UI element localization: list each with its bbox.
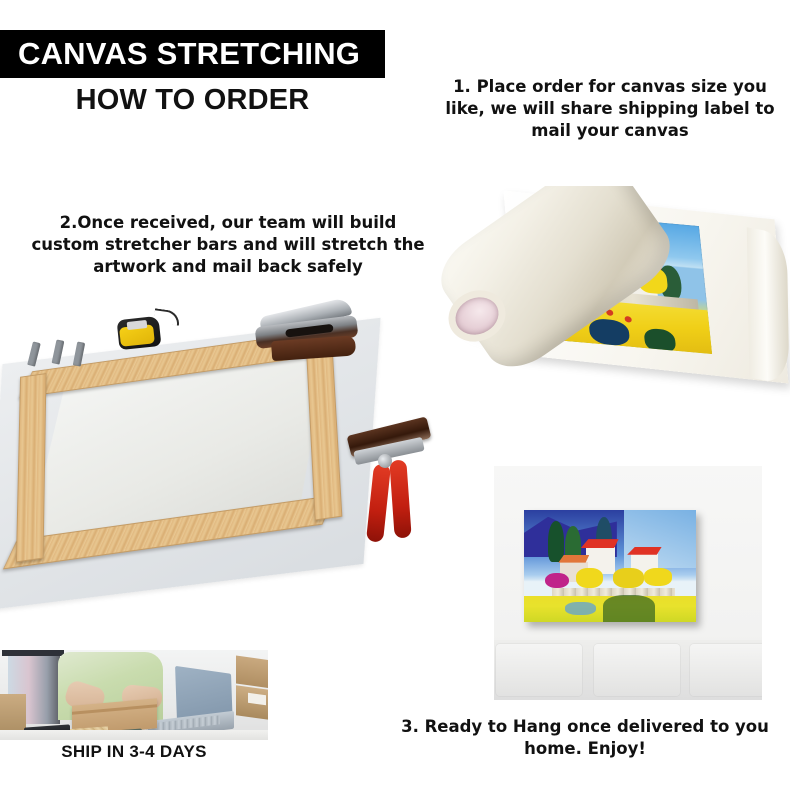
hung-artwork-photo: [494, 466, 762, 700]
stretched-canvas-on-wall: [524, 510, 696, 622]
step-2-text: 2.Once received, our team will build cus…: [28, 212, 428, 277]
sofa-cushion: [496, 644, 582, 696]
pliers-handle: [389, 460, 411, 539]
step-3-text: 3. Ready to Hang once delivered to you h…: [380, 716, 790, 760]
canvas-stretching-pliers-icon: [348, 420, 434, 548]
painting-foreground-shadow: [603, 595, 655, 622]
painting-yellow-bush: [576, 568, 604, 588]
pliers-handle: [366, 463, 391, 542]
shipping-note: SHIP IN 3-4 DAYS: [0, 741, 268, 763]
step-1-text: 1. Place order for canvas size you like,…: [432, 76, 788, 141]
sheet-curl: [747, 227, 790, 385]
painting-magenta-shrub: [545, 573, 569, 589]
sofa-cushion: [594, 644, 680, 696]
page-subtitle: HOW TO ORDER: [0, 84, 385, 117]
infographic-page: CANVAS STRETCHING HOW TO ORDER 1. Place …: [0, 0, 800, 800]
sofa-cushion: [690, 644, 762, 696]
painting-yellow-bush: [644, 568, 672, 586]
stretcher-bar-left: [16, 373, 47, 562]
tape-measure-icon: [118, 318, 160, 348]
clothes-rack-bar: [2, 650, 64, 656]
rolled-canvas-photo: [440, 186, 790, 416]
page-title: CANVAS STRETCHING: [0, 36, 360, 72]
title-banner: CANVAS STRETCHING: [0, 30, 385, 78]
pliers-pivot: [378, 454, 392, 468]
painting-foreground-blue: [565, 602, 596, 615]
stacked-box: [236, 655, 268, 688]
painting-yellow-bush: [613, 568, 644, 588]
painting-cypress-tree: [548, 521, 563, 561]
box-tape: [72, 704, 157, 714]
desk-surface: [0, 730, 268, 740]
shipping-photo: [0, 650, 268, 740]
